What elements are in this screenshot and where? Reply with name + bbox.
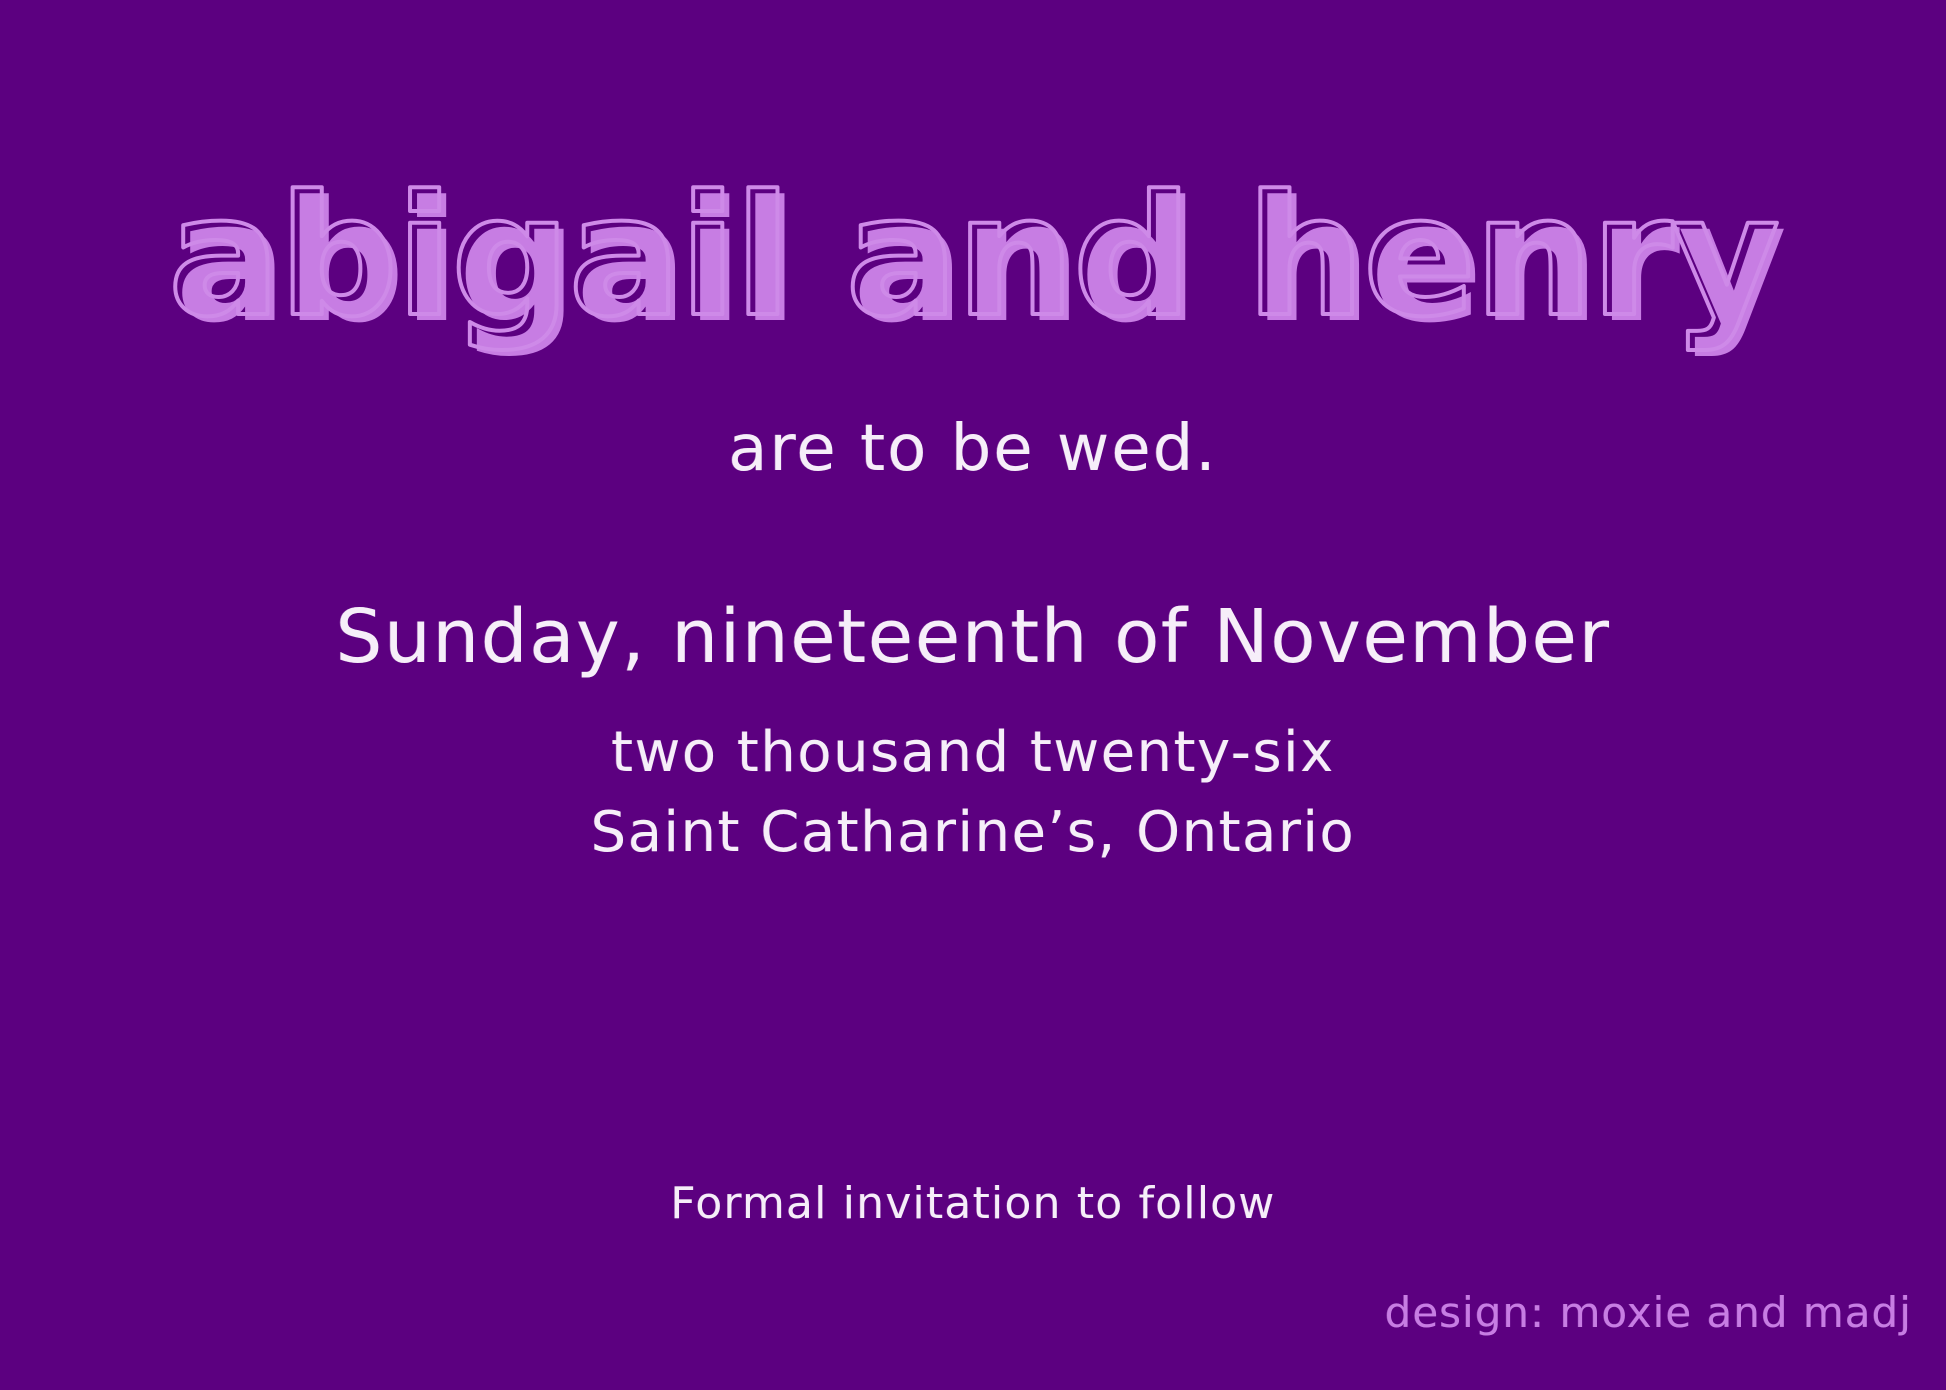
headline-outline-text: abigail and henry (168, 160, 1778, 354)
headline-artwork: abigail and henry abigail and henry (0, 96, 1946, 396)
save-the-date-card: abigail and henry abigail and henry are … (0, 0, 1946, 1390)
event-date-line: Sunday, nineteenth of November (0, 594, 1946, 680)
followup-note: Formal invitation to follow (0, 1178, 1946, 1229)
headline-container: abigail and henry abigail and henry (0, 96, 1946, 376)
event-location-line: Saint Catharine’s, Ontario (0, 800, 1946, 865)
event-year-line: two thousand twenty-six (0, 720, 1946, 785)
announcement-line: are to be wed. (0, 412, 1946, 486)
design-credit: design: moxie and madj (1385, 1288, 1912, 1337)
